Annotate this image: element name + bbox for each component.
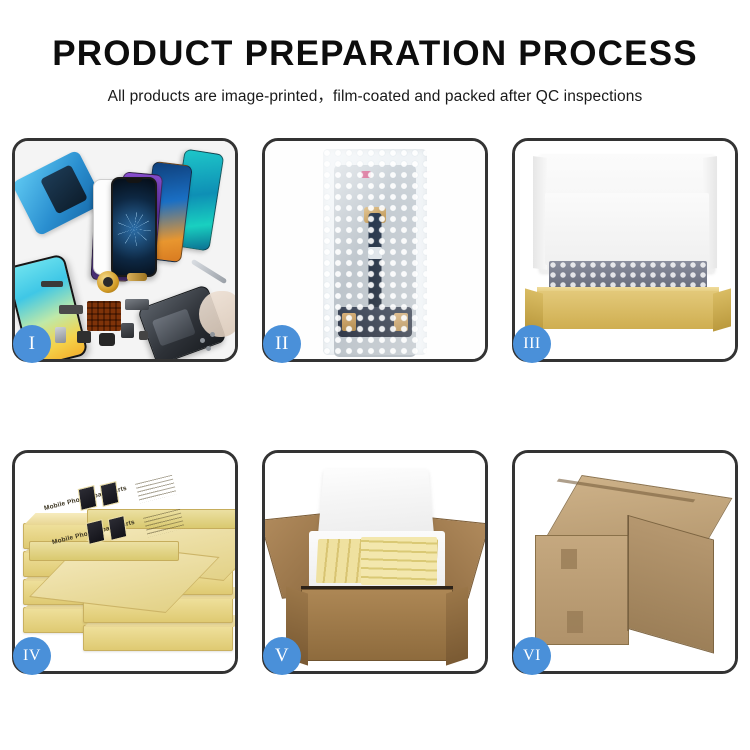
- step-panel-2[interactable]: II: [262, 138, 488, 362]
- step-badge-3: III: [513, 325, 551, 363]
- box-artwork-swatch: [108, 515, 128, 541]
- copper-coil-graphic: [97, 271, 119, 293]
- box-artwork-swatch: [86, 519, 106, 545]
- product-preparation-infographic: PRODUCT PREPARATION PROCESS All products…: [0, 0, 750, 750]
- chip-array-graphic: [87, 301, 121, 331]
- spare-part-graphic: [121, 323, 134, 338]
- step-5-image: [265, 453, 485, 671]
- spare-part-graphic: [77, 331, 91, 343]
- page-title: PRODUCT PREPARATION PROCESS: [0, 36, 750, 73]
- carton-tape-graphic: [567, 611, 583, 633]
- spare-part-graphic: [59, 305, 83, 314]
- bubble-wrap-bag-graphic: [323, 149, 427, 355]
- step-4-image: Mobile Phone Spare Parts Mobile Phone Sp…: [15, 453, 235, 671]
- phone-front-graphic: [111, 177, 157, 277]
- step-panel-3[interactable]: III: [512, 138, 738, 362]
- carton-edge-graphic: [627, 515, 629, 631]
- step-badge-1: I: [13, 325, 51, 363]
- packed-boxes-graphic: [361, 537, 437, 585]
- box-artwork-swatch: [100, 481, 120, 507]
- step-6-image: [515, 453, 735, 671]
- carton-tape-graphic: [561, 549, 577, 569]
- spare-part-graphic: [139, 331, 148, 340]
- step-3-image: [515, 141, 735, 359]
- screw-graphic: [210, 332, 215, 337]
- spare-part-graphic: [41, 281, 63, 287]
- stacked-box: [83, 625, 233, 651]
- carton-side-graphic: [628, 515, 714, 654]
- spare-part-graphic: [99, 333, 115, 346]
- screw-graphic: [206, 346, 211, 351]
- plastic-sheen-graphic: [323, 149, 427, 355]
- step-panel-4[interactable]: Mobile Phone Spare Parts Mobile Phone Sp…: [12, 450, 238, 674]
- spare-part-graphic: [55, 327, 66, 343]
- foam-lid-graphic: [318, 469, 434, 538]
- step-panel-5[interactable]: V: [262, 450, 488, 674]
- hand-graphic: [199, 291, 235, 337]
- page-subtitle: All products are image-printed，film-coat…: [0, 84, 750, 106]
- header: PRODUCT PREPARATION PROCESS All products…: [0, 0, 750, 106]
- spare-part-graphic: [125, 299, 149, 310]
- step-badge-6: VI: [513, 637, 551, 675]
- box-stack-graphic: Mobile Phone Spare Parts Mobile Phone Sp…: [21, 471, 233, 661]
- kraft-box-body-graphic: [537, 291, 719, 329]
- box-spec-lines: [135, 475, 177, 504]
- box-artwork-swatch: [78, 485, 98, 511]
- step-1-image: [15, 141, 235, 359]
- screen-pattern-graphic: [117, 212, 151, 246]
- spare-part-graphic: [127, 273, 147, 281]
- box-edge: [29, 541, 179, 561]
- process-step-grid: I II: [12, 138, 738, 674]
- carton-body-graphic: [301, 589, 453, 661]
- step-2-image: [265, 141, 485, 359]
- screw-graphic: [200, 338, 205, 343]
- step-panel-6[interactable]: VI: [512, 450, 738, 674]
- step-panel-1[interactable]: I: [12, 138, 238, 362]
- step-badge-4: IV: [13, 637, 51, 675]
- step-badge-5: V: [263, 637, 301, 675]
- step-badge-2: II: [263, 325, 301, 363]
- foam-sheet-graphic: [545, 193, 709, 265]
